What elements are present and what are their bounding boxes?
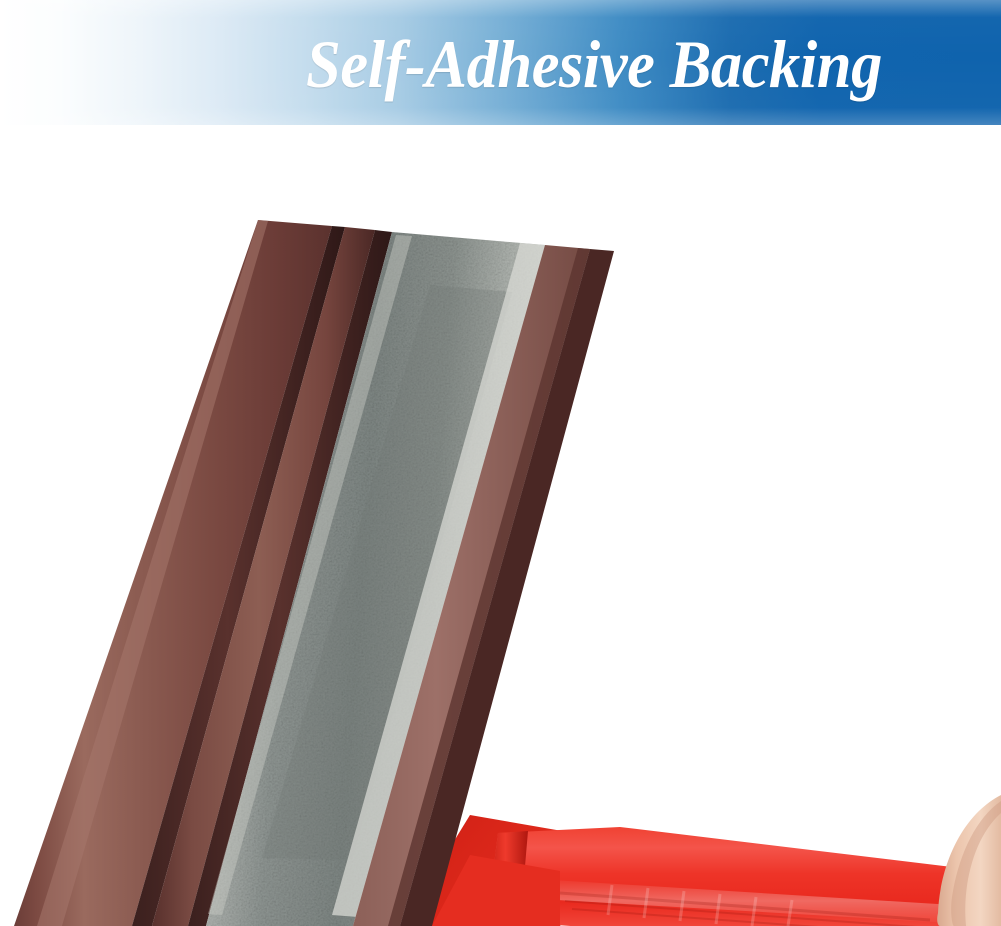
- product-photo-illustration: [0, 125, 1001, 926]
- product-photo: [0, 125, 1001, 926]
- page-title: Self-Adhesive Backing: [306, 18, 941, 110]
- header-banner: Self-Adhesive Backing: [0, 0, 1001, 125]
- product-infographic: Self-Adhesive Backing The flexible floor…: [0, 0, 1001, 926]
